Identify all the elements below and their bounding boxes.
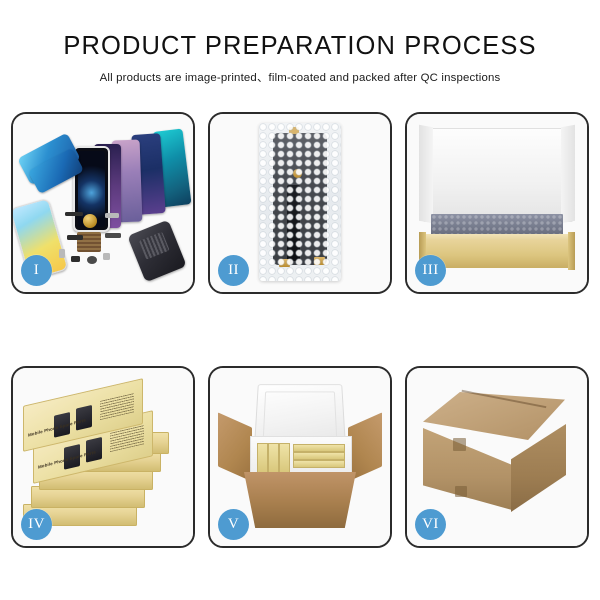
step-badge-6: VI (415, 509, 446, 540)
part-vibrator (87, 256, 97, 264)
bubble-texture (259, 123, 341, 281)
carton-flap-right (348, 412, 382, 481)
part-sim-tray (59, 249, 65, 258)
packed-yellow-box-5 (293, 452, 345, 460)
step-badge-4: IV (21, 509, 52, 540)
box-print-text-block-1 (100, 392, 134, 420)
page-subtitle: All products are image-printed、film-coat… (0, 60, 600, 85)
step-panel-2[interactable]: II (208, 112, 392, 294)
step-panel-4[interactable]: Mobile Phone Spare Parts Mobile Phone Sp… (11, 366, 195, 548)
part-screw-set (103, 253, 110, 260)
part-camera-flex (105, 233, 121, 238)
carton-flap-left (218, 412, 252, 481)
step-5-illustration: V (210, 368, 390, 546)
box-lid-fold-right (561, 125, 575, 223)
yellow-box-edge-right (568, 232, 575, 270)
phone-back-housing (127, 220, 187, 283)
box-lid-fold-left (419, 125, 433, 223)
step-6-illustration: VI (407, 368, 587, 546)
carton-tab-lower (455, 486, 467, 497)
white-box-lid (423, 128, 573, 222)
part-flex-cable (65, 212, 83, 216)
step-panel-1[interactable]: I (11, 112, 195, 294)
packed-yellow-box-3 (279, 443, 290, 473)
sealed-carton-top (423, 392, 565, 440)
page-title: PRODUCT PREPARATION PROCESS (0, 0, 600, 60)
bubble-wrap-package (259, 123, 341, 281)
step-badge-1: I (21, 255, 52, 286)
part-speaker (71, 256, 80, 262)
carton-body (244, 472, 356, 528)
packed-yellow-box-4 (293, 444, 345, 452)
step-badge-3: III (415, 255, 446, 286)
styrofoam-liner (250, 436, 352, 478)
sealed-carton-front (423, 428, 512, 510)
step-badge-5: V (218, 509, 249, 540)
step-badge-2: II (218, 255, 249, 286)
part-ribbon (67, 235, 83, 240)
packed-yellow-box-2 (268, 443, 279, 473)
carton-tab-upper (453, 438, 466, 451)
step-panel-3[interactable]: III (405, 112, 589, 294)
packed-yellow-box-1 (257, 443, 268, 473)
step-3-illustration: III (407, 114, 587, 292)
process-steps-grid: I II III (11, 112, 589, 548)
step-1-illustration: I (13, 114, 193, 292)
part-bracket (105, 213, 119, 218)
step-panel-6[interactable]: VI (405, 366, 589, 548)
step-2-illustration: II (210, 114, 390, 292)
header: PRODUCT PREPARATION PROCESS All products… (0, 0, 600, 85)
packed-yellow-box-6 (293, 460, 345, 468)
step-4-illustration: Mobile Phone Spare Parts Mobile Phone Sp… (13, 368, 193, 546)
step-panel-5[interactable]: V (208, 366, 392, 548)
gold-component-icon (83, 214, 97, 228)
